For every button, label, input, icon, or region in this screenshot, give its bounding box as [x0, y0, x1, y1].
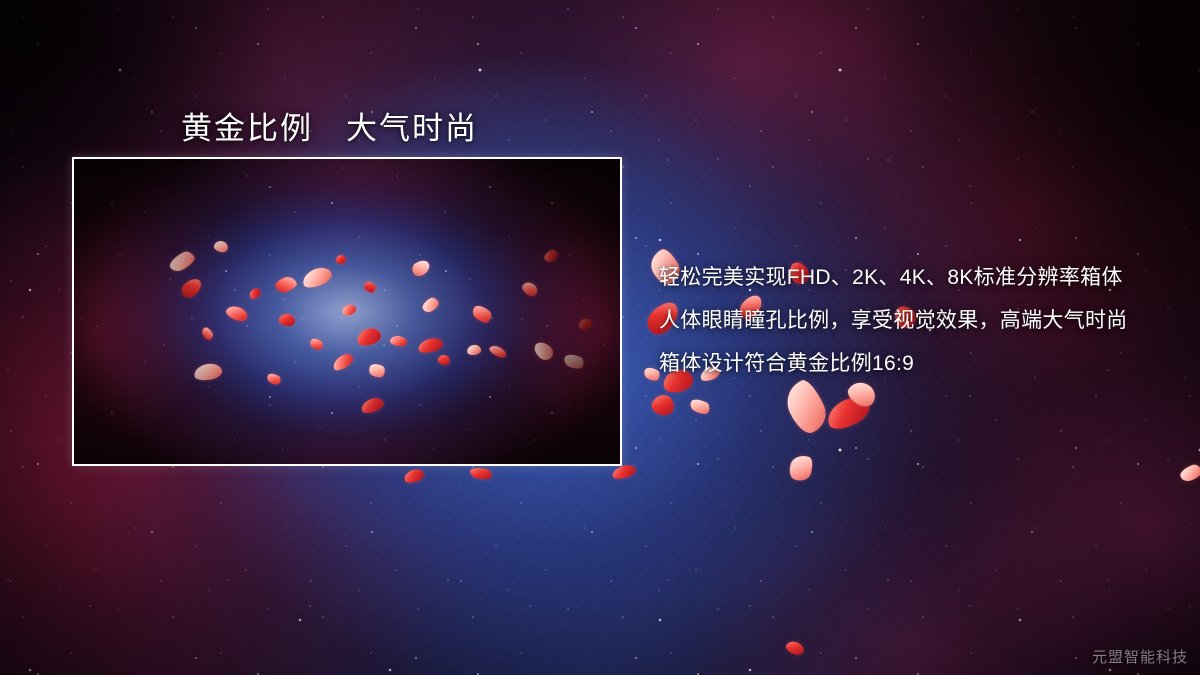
slide-canvas: 黄金比例 大气时尚 轻松完美实现FHD、2K、4K、8K标准分辨率箱体 人体眼睛… [0, 0, 1200, 675]
rose-petal [787, 452, 816, 484]
rose-petal [469, 466, 493, 481]
led-display-panel[interactable] [72, 157, 622, 466]
rose-petal [784, 639, 805, 657]
feature-line-2: 人体眼睛瞳孔比例，享受视觉效果，高端大气时尚 [659, 299, 1159, 342]
feature-description-block: 轻松完美实现FHD、2K、4K、8K标准分辨率箱体 人体眼睛瞳孔比例，享受视觉效… [659, 256, 1159, 385]
rose-petal [1178, 463, 1200, 484]
rose-petal [688, 396, 712, 416]
rose-petal [403, 467, 426, 485]
brand-watermark: 元盟智能科技 [1092, 646, 1188, 667]
feature-line-3: 箱体设计符合黄金比例16:9 [659, 342, 1159, 385]
rose-petal [780, 376, 832, 437]
page-title: 黄金比例 大气时尚 [181, 103, 478, 148]
screen-vignette [74, 159, 620, 464]
rose-petal [650, 393, 676, 417]
rose-petal [823, 392, 874, 435]
feature-line-1: 轻松完美实现FHD、2K、4K、8K标准分辨率箱体 [659, 256, 1159, 299]
